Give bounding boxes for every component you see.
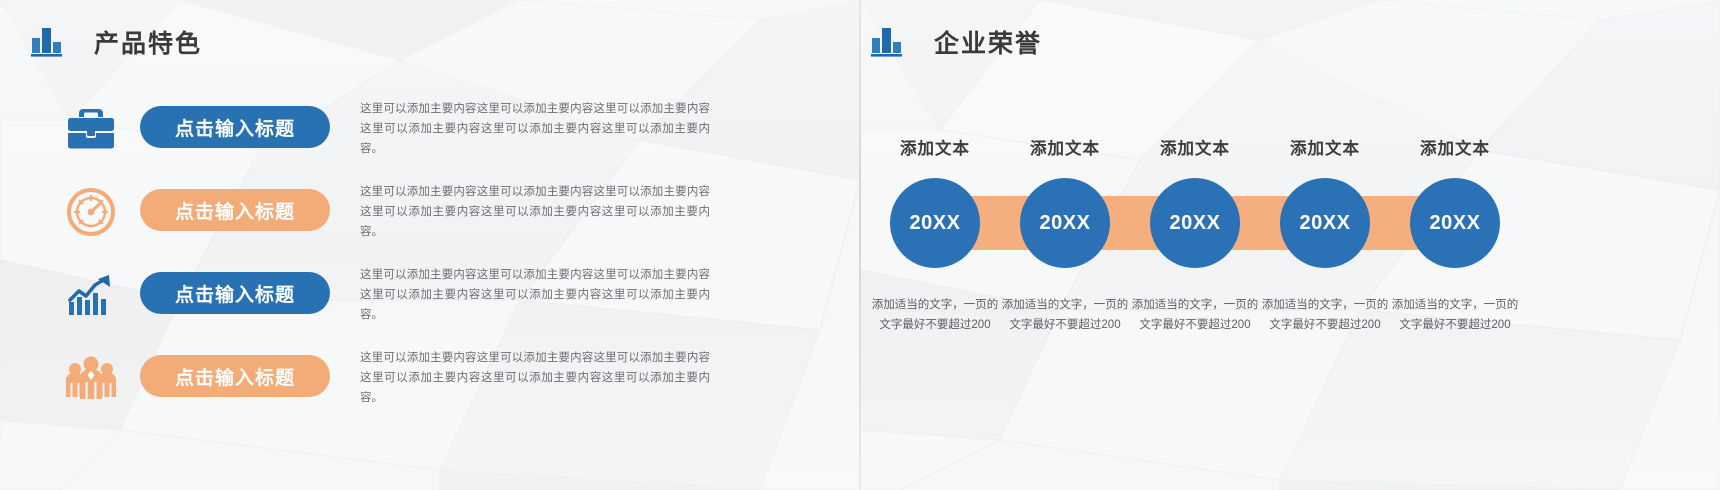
slide-company-honors: 企业荣誉 添加文本 20XX 添加适当的文字，一页的文字最好不要超过200 添加…: [860, 0, 1720, 490]
feature-row[interactable]: 点击输入标题 这里可以添加主要内容这里可以添加主要内容这里可以添加主要内容这里可…: [62, 258, 710, 325]
page-title: 产品特色: [94, 24, 202, 60]
feature-title-pill[interactable]: 点击输入标题: [140, 355, 330, 397]
feature-body-text: 这里可以添加主要内容这里可以添加主要内容这里可以添加主要内容这里可以添加主要内容…: [360, 349, 710, 408]
feature-title-pill[interactable]: 点击输入标题: [140, 189, 330, 231]
timeline-year[interactable]: 20XX: [1150, 178, 1240, 268]
speedometer-icon: [62, 183, 120, 241]
left-section-header: 产品特色: [28, 24, 202, 60]
timeline-year[interactable]: 20XX: [1280, 178, 1370, 268]
feature-row[interactable]: 点击输入标题 这里可以添加主要内容这里可以添加主要内容这里可以添加主要内容这里可…: [62, 341, 710, 408]
growth-chart-icon: [62, 266, 120, 324]
timeline-year[interactable]: 20XX: [1410, 178, 1500, 268]
feature-title-pill[interactable]: 点击输入标题: [140, 272, 330, 314]
feature-body-text: 这里可以添加主要内容这里可以添加主要内容这里可以添加主要内容这里可以添加主要内容…: [360, 266, 710, 325]
briefcase-icon: [62, 100, 120, 158]
honors-timeline: 添加文本 20XX 添加适当的文字，一页的文字最好不要超过200 添加文本 20…: [860, 0, 1720, 490]
slide-product-features: 产品特色 点击输入标题 这里可以添加主要内容这里可以添加主要内容这里可以添加主要…: [0, 0, 860, 490]
bar-chart-icon: [28, 24, 68, 60]
slide-divider: [859, 0, 861, 490]
timeline-year[interactable]: 20XX: [890, 178, 980, 268]
feature-row[interactable]: 点击输入标题 这里可以添加主要内容这里可以添加主要内容这里可以添加主要内容这里可…: [62, 175, 710, 242]
team-people-icon: [62, 349, 120, 407]
feature-title-pill[interactable]: 点击输入标题: [140, 106, 330, 148]
feature-row[interactable]: 点击输入标题 这里可以添加主要内容这里可以添加主要内容这里可以添加主要内容这里可…: [62, 92, 710, 159]
timeline-year[interactable]: 20XX: [1020, 178, 1110, 268]
feature-body-text: 这里可以添加主要内容这里可以添加主要内容这里可以添加主要内容这里可以添加主要内容…: [360, 100, 710, 159]
feature-body-text: 这里可以添加主要内容这里可以添加主要内容这里可以添加主要内容这里可以添加主要内容…: [360, 183, 710, 242]
